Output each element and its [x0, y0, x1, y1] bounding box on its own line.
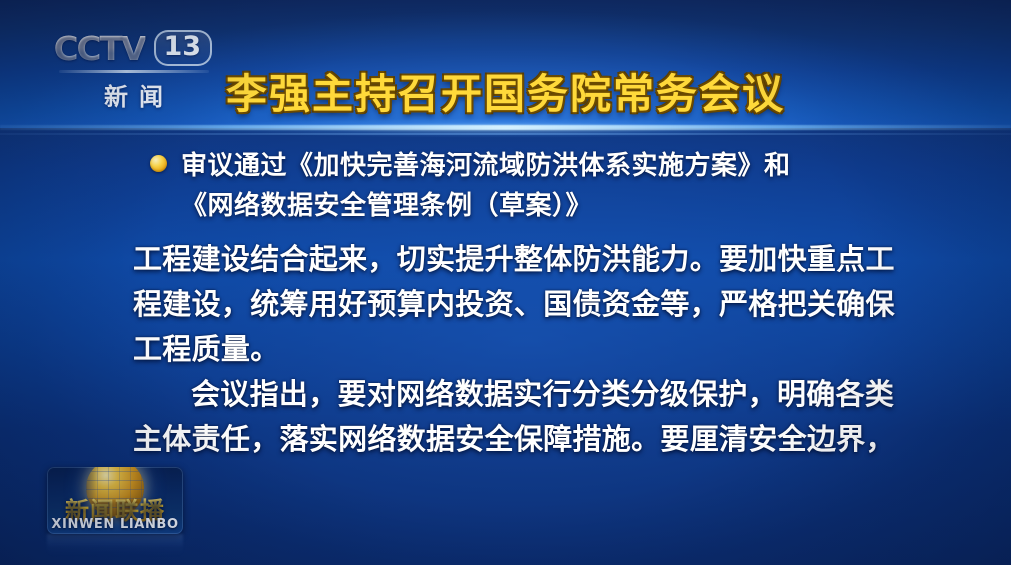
body-text: 工程建设结合起来，切实提升整体防洪能力。要加快重点工程建设，统筹用好预算内投资、…: [133, 237, 889, 462]
body-line: 会议指出，要对网络数据实行分类分级保护，明确各类: [133, 372, 889, 417]
watermark-reflection: [47, 534, 183, 556]
broadcast-screen: CCTV 13 新闻 李强主持召开国务院常务会议 审议通过《加快完善海河流域防洪…: [0, 0, 1011, 565]
bullet-dot-icon: [150, 155, 167, 172]
body-line: 程建设，统筹用好预算内投资、国债资金等，严格把关确保: [133, 282, 889, 327]
subtitle-block: 审议通过《加快完善海河流域防洪体系实施方案》和 《网络数据安全管理条例（草案）》: [150, 146, 910, 226]
band-divider: [0, 125, 1011, 130]
body-line: 工程质量。: [133, 327, 889, 372]
subtitle-line-2: 《网络数据安全管理条例（草案）》: [181, 191, 592, 221]
subtitle-row-second: 《网络数据安全管理条例（草案）》: [181, 186, 910, 226]
xinwen-lianbo-watermark: 新闻联播 XINWEN LIANBO: [47, 467, 183, 534]
page-title: 李强主持召开国务院常务会议: [0, 60, 1011, 120]
body-line: 工程建设结合起来，切实提升整体防洪能力。要加快重点工: [133, 237, 889, 282]
subtitle-line-1: 审议通过《加快完善海河流域防洪体系实施方案》和: [181, 146, 791, 186]
body-line: 主体责任，落实网络数据安全保障措施。要厘清安全边界，: [133, 417, 889, 462]
band-divider-secondary: [0, 133, 1011, 135]
subtitle-row-first: 审议通过《加快完善海河流域防洪体系实施方案》和: [150, 146, 910, 186]
program-name-en: XINWEN LIANBO: [47, 517, 183, 532]
